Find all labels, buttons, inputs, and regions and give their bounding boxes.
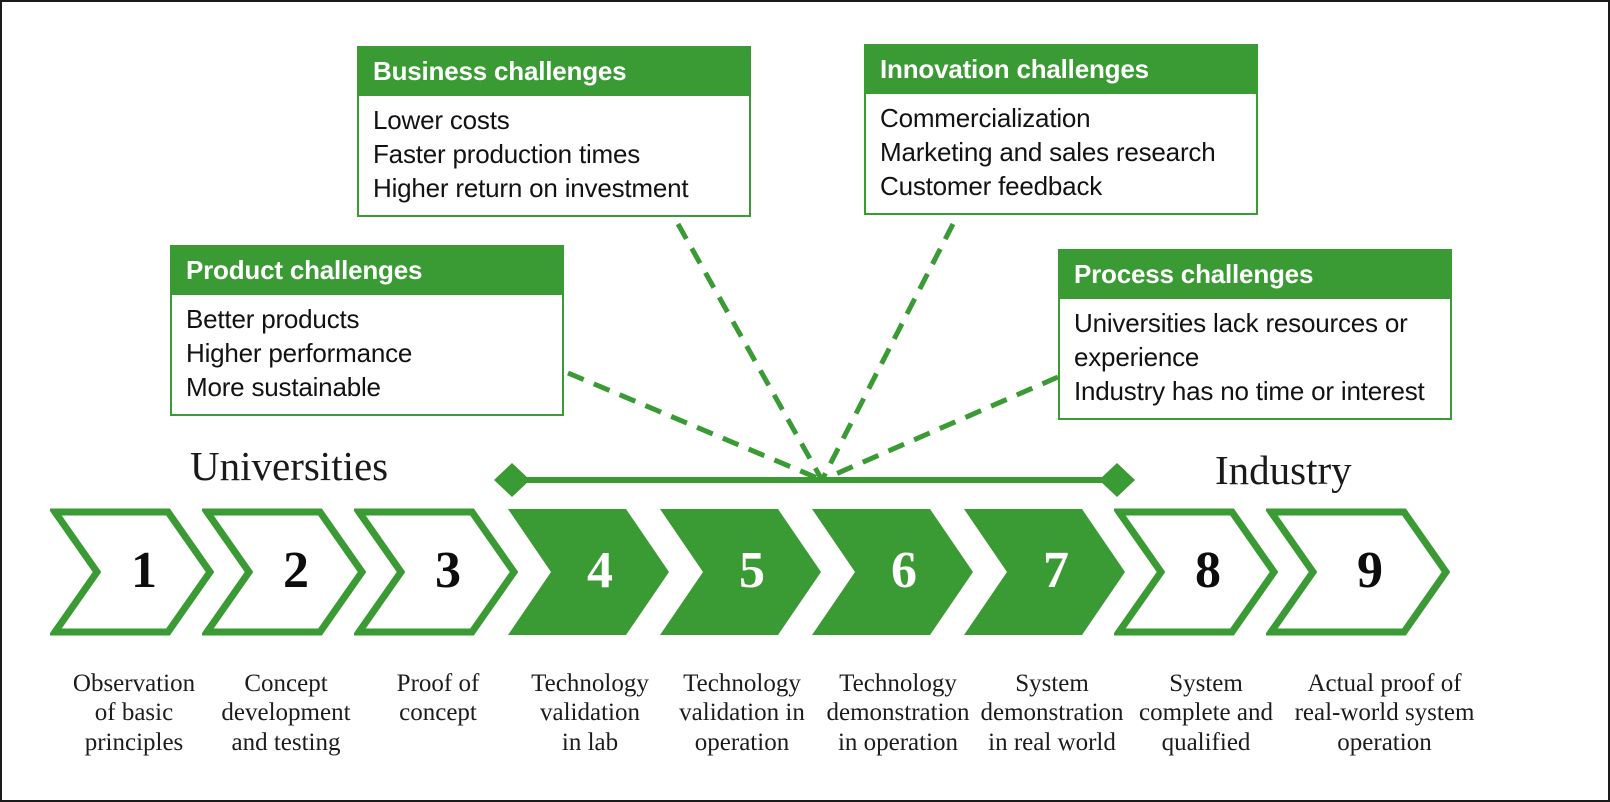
callout-product-title: Product challenges (172, 247, 562, 295)
callout-product-line-2: Higher performance (186, 336, 548, 370)
callout-innovation-title: Innovation challenges (866, 46, 1256, 94)
chevron-number-3: 3 (408, 545, 488, 597)
connector-process-icon (822, 377, 1058, 480)
connector-business-icon (678, 224, 822, 480)
callout-innovation-line-3: Customer feedback (880, 169, 1242, 203)
callout-product-line-1: Better products (186, 302, 548, 336)
chevron-number-7: 7 (1016, 545, 1096, 597)
callout-innovation: Innovation challenges Commercialization … (864, 44, 1258, 215)
callout-business: Business challenges Lower costs Faster p… (357, 46, 751, 217)
callout-product-body: Better products Higher performance More … (172, 295, 562, 414)
label-industry: Industry (1215, 450, 1352, 491)
connector-product-icon (568, 373, 822, 480)
callout-business-title: Business challenges (359, 48, 749, 96)
chevron-number-5: 5 (712, 545, 792, 597)
chevron-number-6: 6 (864, 545, 944, 597)
callout-product-line-3: More sustainable (186, 370, 548, 404)
callout-process-title: Process challenges (1060, 251, 1450, 299)
chevron-number-4: 4 (560, 545, 640, 597)
callout-innovation-body: Commercialization Marketing and sales re… (866, 94, 1256, 213)
span-diamond-right-icon (1099, 463, 1135, 497)
stage-caption-9: Actual proof of real-world system operat… (1282, 669, 1487, 757)
connector-innovation-icon (822, 224, 953, 480)
callout-innovation-line-1: Commercialization (880, 101, 1242, 135)
callout-process-body: Universities lack resources or experienc… (1060, 299, 1450, 418)
diagram-canvas: Business challenges Lower costs Faster p… (0, 0, 1610, 802)
label-universities: Universities (190, 446, 388, 487)
span-diamond-left-icon (494, 463, 530, 497)
callout-business-line-2: Faster production times (373, 137, 735, 171)
callout-product: Product challenges Better products Highe… (170, 245, 564, 416)
stage-caption-8: System complete and qualified (1112, 669, 1300, 757)
callout-innovation-line-2: Marketing and sales research (880, 135, 1242, 169)
callout-business-line-3: Higher return on investment (373, 171, 735, 205)
callout-business-body: Lower costs Faster production times High… (359, 96, 749, 215)
chevron-number-8: 8 (1168, 545, 1248, 597)
chevron-number-9: 9 (1330, 545, 1410, 597)
chevron-number-1: 1 (104, 545, 184, 597)
chevron-number-2: 2 (256, 545, 336, 597)
callout-process-line-2: Industry has no time or interest (1074, 374, 1436, 408)
callout-process: Process challenges Universities lack res… (1058, 249, 1452, 420)
callout-business-line-1: Lower costs (373, 103, 735, 137)
callout-process-line-1: Universities lack resources or experienc… (1074, 306, 1436, 374)
